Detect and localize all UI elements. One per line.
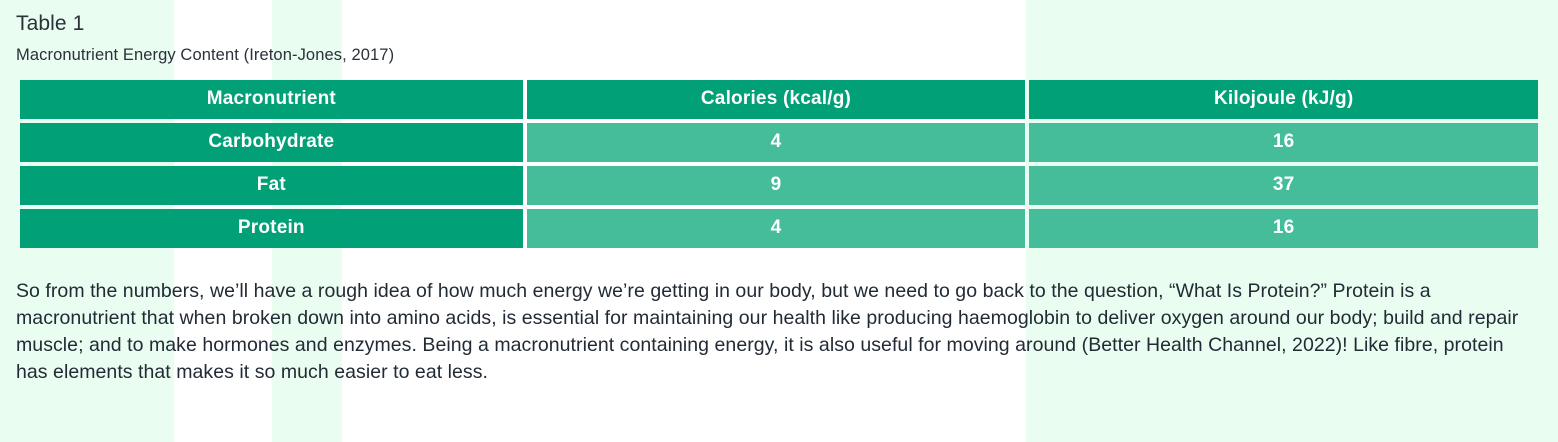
cell-fat-kilojoule: 37 bbox=[1029, 166, 1538, 205]
table-header-row: Macronutrient Calories (kcal/g) Kilojoul… bbox=[20, 80, 1538, 119]
column-header-macronutrient: Macronutrient bbox=[20, 80, 523, 119]
table-row: Carbohydrate 4 16 bbox=[20, 123, 1538, 162]
table-number-label: Table 1 bbox=[16, 11, 1558, 37]
column-header-kilojoule: Kilojoule (kJ/g) bbox=[1029, 80, 1538, 119]
row-label-fat: Fat bbox=[20, 166, 523, 205]
table-header: Macronutrient Calories (kcal/g) Kilojoul… bbox=[20, 80, 1538, 119]
table-row: Fat 9 37 bbox=[20, 166, 1538, 205]
row-label-carbohydrate: Carbohydrate bbox=[20, 123, 523, 162]
cell-carbohydrate-kilojoule: 16 bbox=[1029, 123, 1538, 162]
table-row: Protein 4 16 bbox=[20, 209, 1538, 248]
table-caption-block: Table 1 Macronutrient Energy Content (Ir… bbox=[0, 0, 1558, 67]
column-header-calories: Calories (kcal/g) bbox=[527, 80, 1026, 119]
cell-carbohydrate-calories: 4 bbox=[527, 123, 1026, 162]
cell-protein-calories: 4 bbox=[527, 209, 1026, 248]
table-body: Carbohydrate 4 16 Fat 9 37 Protein 4 16 bbox=[20, 123, 1538, 248]
row-label-protein: Protein bbox=[20, 209, 523, 248]
cell-protein-kilojoule: 16 bbox=[1029, 209, 1538, 248]
table-title: Macronutrient Energy Content (Ireton-Jon… bbox=[16, 45, 1558, 66]
macronutrient-energy-table: Macronutrient Calories (kcal/g) Kilojoul… bbox=[16, 76, 1542, 252]
cell-fat-calories: 9 bbox=[527, 166, 1026, 205]
body-paragraph: So from the numbers, we’ll have a rough … bbox=[16, 278, 1528, 386]
document-page: Table 1 Macronutrient Energy Content (Ir… bbox=[0, 0, 1558, 386]
